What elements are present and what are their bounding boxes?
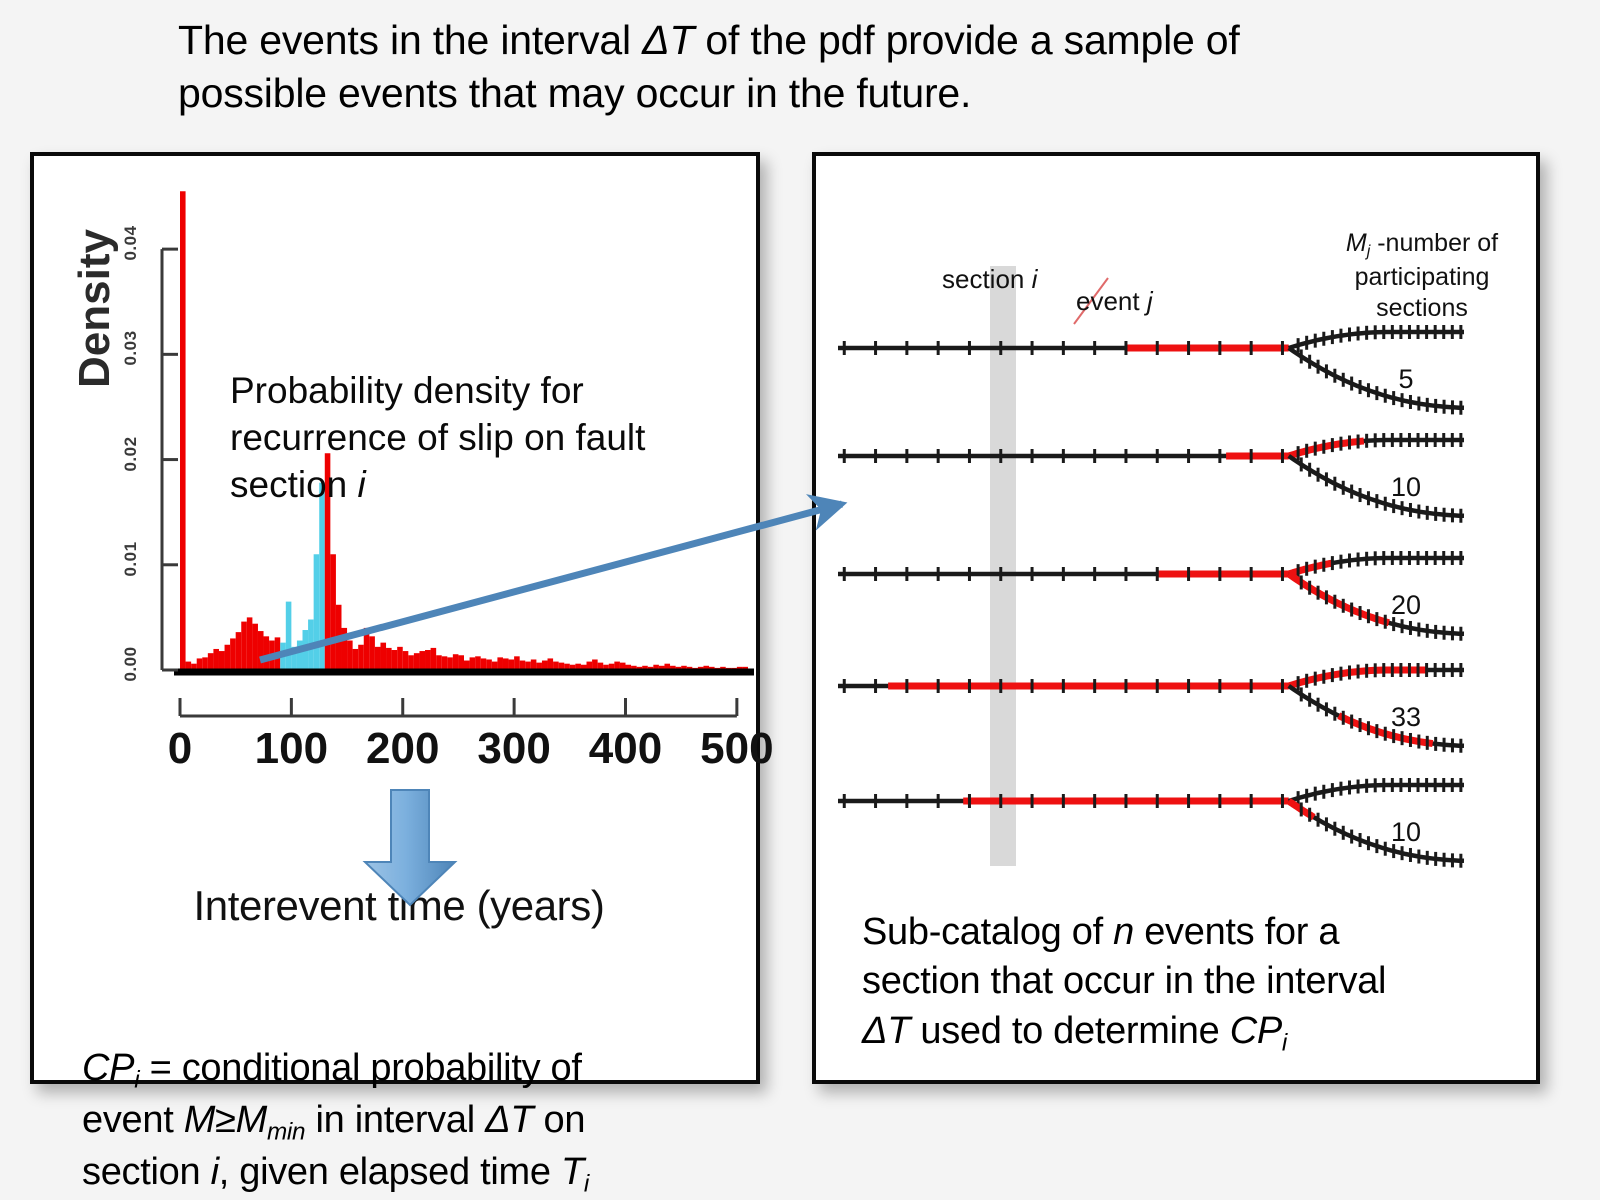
mj-value-1: 5 xyxy=(1376,364,1436,395)
down-arrow-shape xyxy=(365,790,455,905)
chart-annotation-note: Probability density for recurrence of sl… xyxy=(230,368,730,509)
rcap-cp: CP xyxy=(1230,1010,1282,1052)
caption-seg7: , given elapsed time xyxy=(219,1151,561,1193)
y-tick-0.02: 0.02 xyxy=(121,431,141,477)
rcap-l3b: used to determine xyxy=(910,1010,1230,1052)
x-tick-500: 500 xyxy=(677,724,797,774)
headline-line1-a: The events in the interval xyxy=(178,17,642,63)
rcap-l1a: Sub-catalog of xyxy=(862,911,1113,953)
caption-section-i: i xyxy=(211,1151,219,1193)
y-tick-0.00: 0.00 xyxy=(121,641,141,687)
left-panel: Density 0.000.010.020.030.04 01002003004… xyxy=(30,152,760,1084)
caption-seg5: on xyxy=(533,1099,585,1141)
mj-value-2: 10 xyxy=(1376,472,1436,503)
label-event-text: event xyxy=(1076,286,1147,316)
caption-cp: CP xyxy=(82,1047,134,1089)
label-mj-legend: Mj -number of participating sections xyxy=(1314,228,1530,324)
x-tick-100: 100 xyxy=(231,724,351,774)
label-event-italic: j xyxy=(1147,286,1153,316)
label-section-text: section xyxy=(942,264,1032,294)
y-tick-0.03: 0.03 xyxy=(121,325,141,371)
left-panel-caption: CPi = conditional probability of event M… xyxy=(82,1044,742,1200)
caption-seg3: event xyxy=(82,1099,184,1141)
caption-delta-t: ΔT xyxy=(485,1099,533,1141)
slide-headline: The events in the interval ΔT of the pdf… xyxy=(178,14,1418,121)
x-tick-400: 400 xyxy=(565,724,685,774)
note-line3: section xyxy=(230,464,358,505)
rcap-n: n xyxy=(1113,911,1134,953)
y-axis-title: Density xyxy=(70,229,120,388)
caption-seg6: section xyxy=(82,1151,211,1193)
y-tick-0.01: 0.01 xyxy=(121,536,141,582)
label-mj-rest: -number of xyxy=(1370,229,1498,257)
label-mj-symbol: M xyxy=(1346,229,1367,257)
rcap-l2: section that occur in the interval xyxy=(862,960,1386,1002)
label-event-j: event j xyxy=(1076,286,1153,317)
note-line1: Probability density for xyxy=(230,370,584,411)
x-tick-200: 200 xyxy=(343,724,463,774)
down-arrow xyxy=(355,788,465,908)
y-tick-0.04: 0.04 xyxy=(121,220,141,266)
rcap-delta-t: ΔT xyxy=(862,1010,910,1052)
label-section-italic: i xyxy=(1032,264,1038,294)
caption-mmin: M≥M xyxy=(184,1099,267,1141)
caption-mmin-sub: min xyxy=(267,1118,305,1145)
mj-value-4: 33 xyxy=(1376,702,1436,733)
headline-line2: possible events that may occur in the fu… xyxy=(178,70,971,116)
note-line3-italic: i xyxy=(358,464,366,505)
caption-ti: T xyxy=(561,1151,584,1193)
caption-seg2: = conditional probability of xyxy=(139,1047,581,1089)
label-mj-line2: participating xyxy=(1355,263,1490,291)
headline-delta-t: ΔT xyxy=(642,17,694,63)
rcap-l1b: events for a xyxy=(1134,911,1339,953)
x-tick-300: 300 xyxy=(454,724,574,774)
label-mj-line3: sections xyxy=(1376,294,1468,322)
label-section-i: section i xyxy=(942,264,1037,295)
right-panel-caption: Sub-catalog of n events for a section th… xyxy=(862,908,1522,1059)
mj-value-5: 10 xyxy=(1376,817,1436,848)
note-line2: recurrence of slip on fault xyxy=(230,417,645,458)
caption-ti-sub: i xyxy=(584,1170,589,1197)
headline-line1-b: of the pdf provide a sample of xyxy=(694,17,1239,63)
rcap-cp-sub: i xyxy=(1282,1029,1287,1056)
mj-value-3: 20 xyxy=(1376,590,1436,621)
right-panel: section i event j Mj -number of particip… xyxy=(812,152,1540,1084)
caption-seg4: in interval xyxy=(305,1099,485,1141)
x-tick-0: 0 xyxy=(120,724,240,774)
slide-canvas: The events in the interval ΔT of the pdf… xyxy=(0,0,1600,1200)
